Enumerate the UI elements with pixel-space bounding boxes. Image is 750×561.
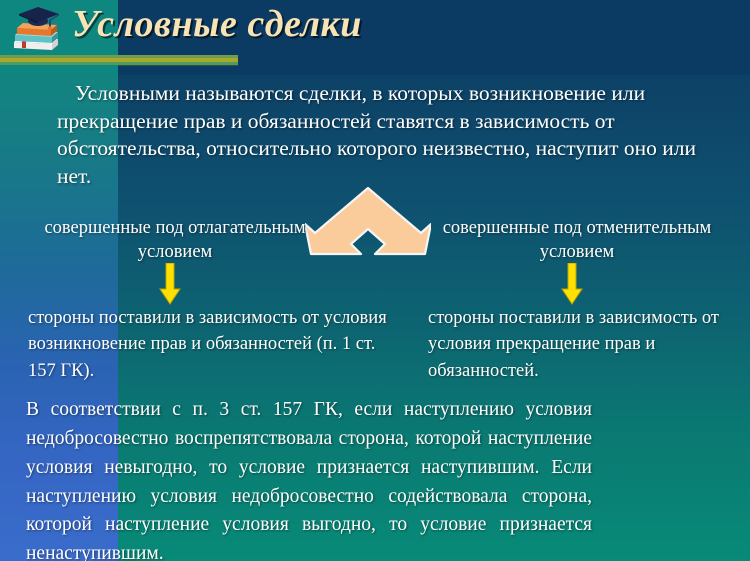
branch-body-resolutive: стороны поставили в зависимость от услов…	[428, 305, 738, 384]
down-arrow-icon-left	[159, 263, 181, 305]
down-arrow-icon-right	[561, 263, 583, 305]
title-underline	[0, 55, 238, 67]
presentation-slide: Условные сделки Условными называются сде…	[0, 0, 750, 561]
split-arrow-icon	[305, 186, 431, 256]
footnote-paragraph: В соответствии с п. 3 ст. 157 ГК, если н…	[26, 396, 592, 561]
intro-paragraph: Условными называются сделки, в которых в…	[57, 80, 717, 190]
graduation-cap-books-icon	[8, 4, 64, 52]
page-title: Условные сделки	[72, 2, 712, 46]
branch-heading-suspensive: совершенные под отлагательным условием	[30, 216, 320, 264]
branch-heading-resolutive: совершенные под отменительным условием	[432, 216, 722, 264]
title-underline-stripe-teal	[0, 62, 238, 65]
branch-body-suspensive: стороны поставили в зависимость от услов…	[28, 305, 388, 384]
